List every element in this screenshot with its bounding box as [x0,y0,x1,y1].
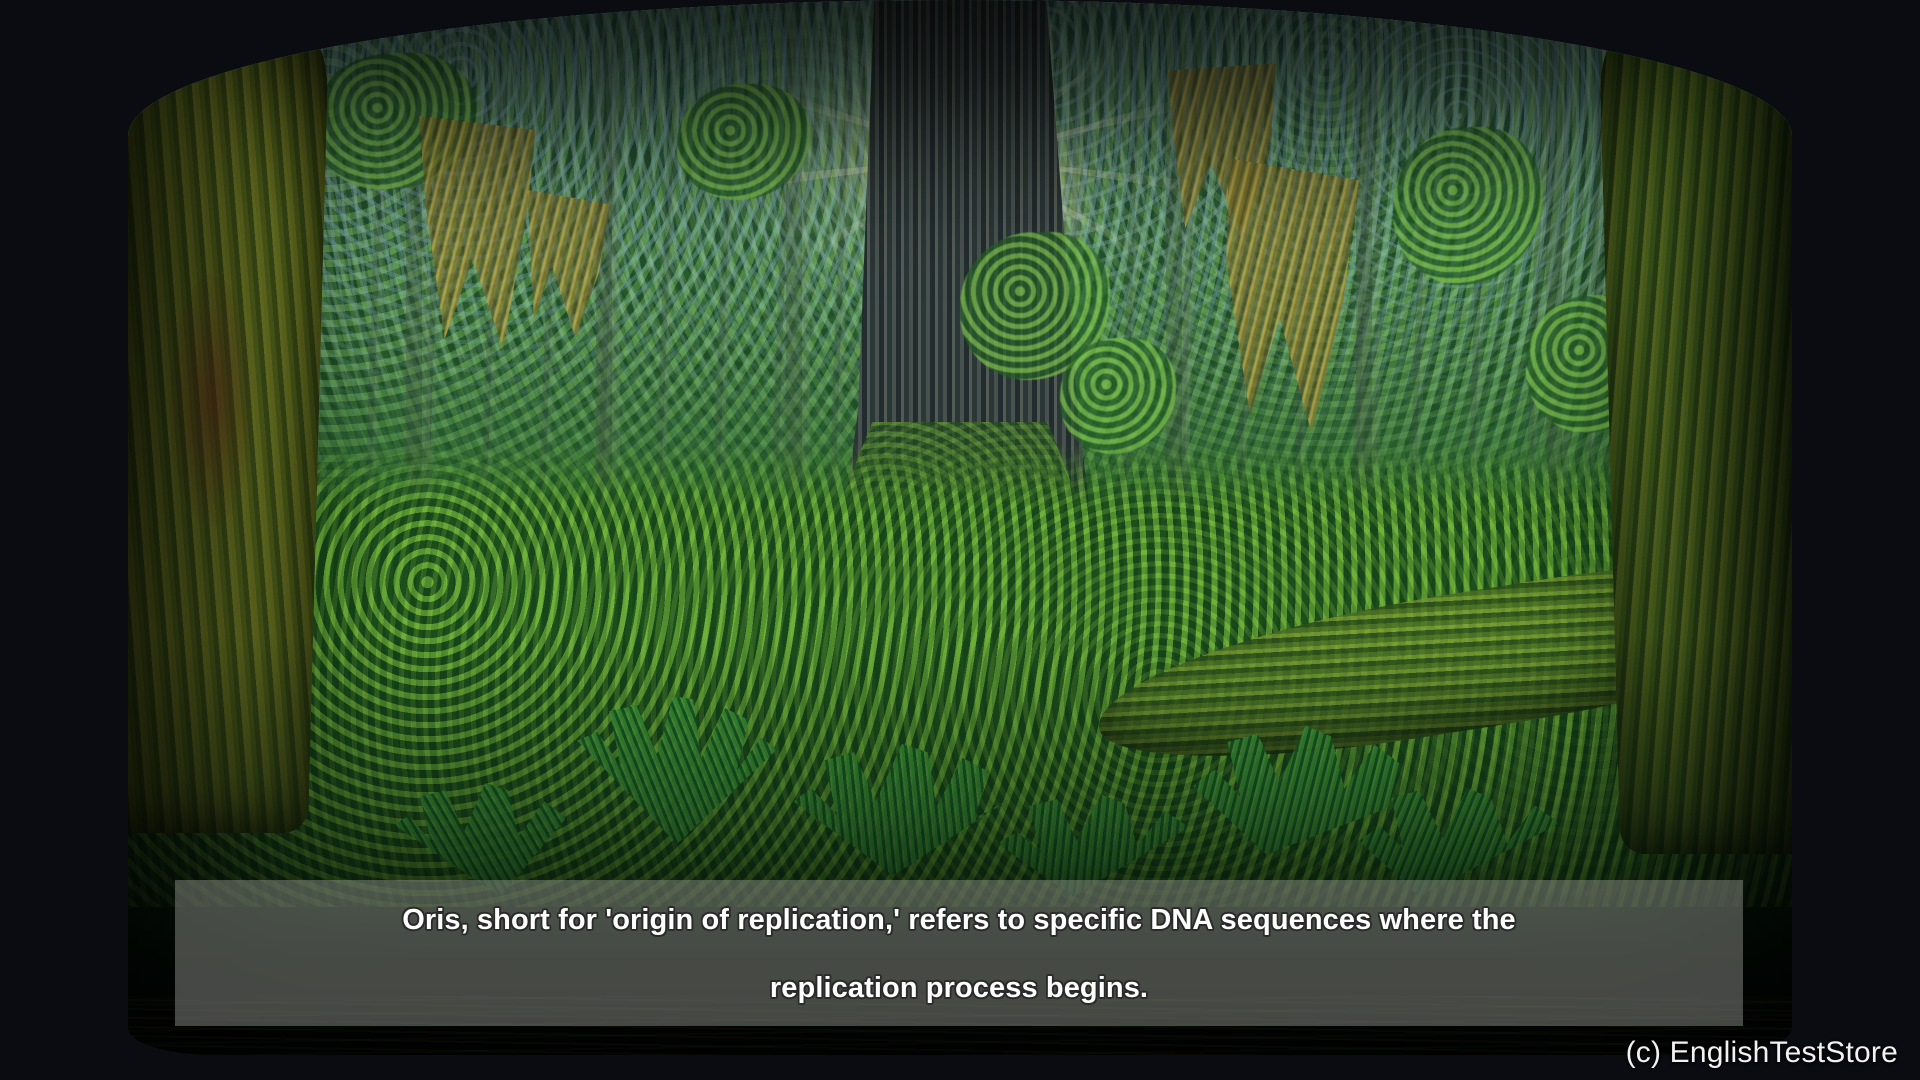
subtitle-line-1: Oris, short for 'origin of replication,'… [175,886,1743,954]
copyright-watermark: (c) EnglishTestStore [1626,1036,1898,1070]
subtitle-overlay: Oris, short for 'origin of replication,'… [175,880,1743,1026]
video-frame-screenshot: Oris, short for 'origin of replication,'… [0,0,1920,1080]
subtitle-line-2: replication process begins. [175,954,1743,1022]
